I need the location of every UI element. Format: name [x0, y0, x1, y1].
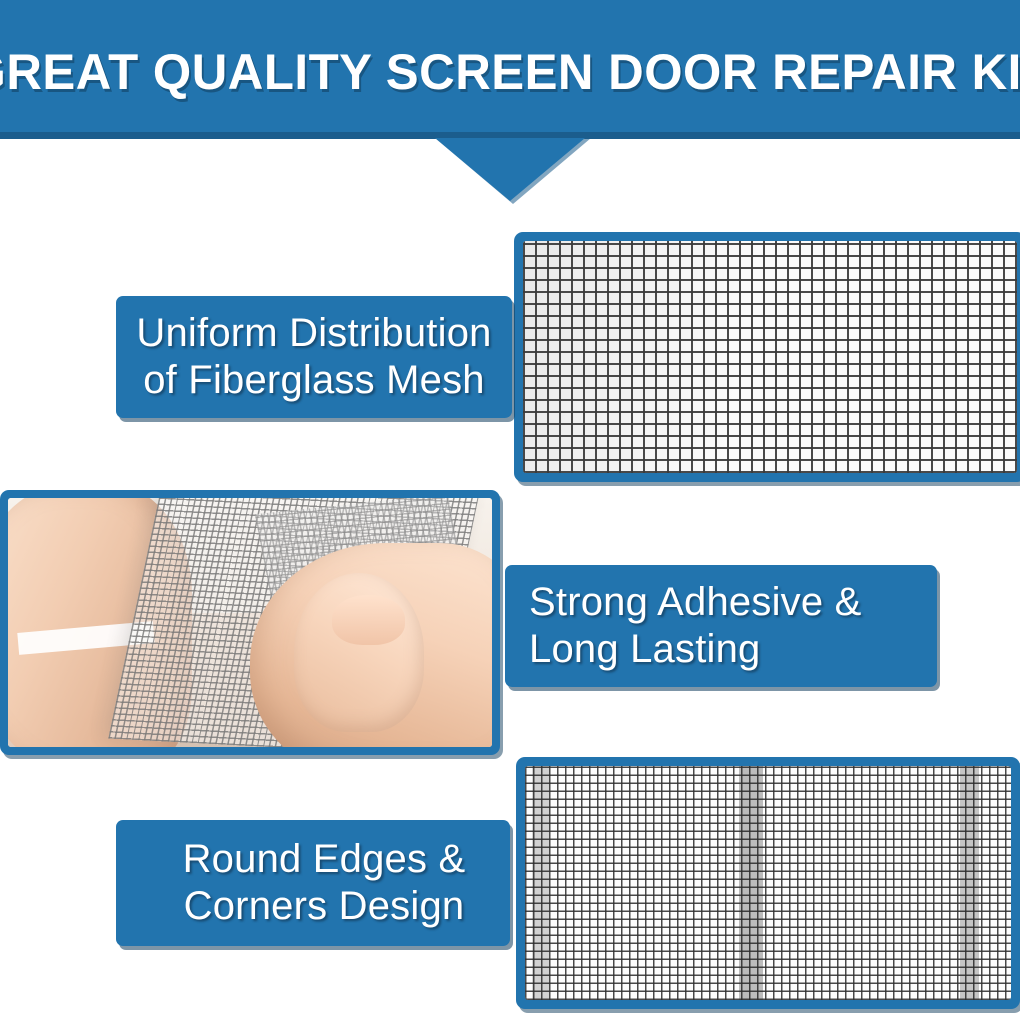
mesh-density-band-left	[532, 766, 549, 1000]
feature-3-line-1: Round Edges &	[161, 836, 466, 883]
feature-1-line-2: of Fiberglass Mesh	[143, 357, 485, 404]
page-title: GREAT QUALITY SCREEN DOOR REPAIR KIT	[8, 0, 1013, 139]
feature-2-line-1: Strong Adhesive &	[529, 579, 862, 626]
mesh-swatch-fine-panel	[516, 757, 1020, 1009]
feature-callout-uniform-distribution: Uniform Distribution of Fiberglass Mesh	[116, 296, 512, 418]
mesh-swatch-fine-image	[525, 766, 1011, 1000]
feature-1-line-1: Uniform Distribution	[136, 310, 491, 357]
feature-3-line-2: Corners Design	[162, 883, 465, 930]
feature-callout-round-edges: Round Edges & Corners Design	[116, 820, 510, 946]
hands-photo-panel	[0, 490, 500, 755]
thumbnail-shape	[332, 595, 405, 645]
mesh-density-band-center	[739, 766, 763, 1000]
feature-2-line-2: Long Lasting	[529, 626, 760, 673]
hands-photo-image	[8, 498, 492, 747]
product-feature-poster: GREAT QUALITY SCREEN DOOR REPAIR KIT Uni…	[0, 0, 1020, 1014]
mesh-swatch-coarse-panel	[514, 232, 1020, 482]
fiberglass-mesh-weave-graphic	[523, 241, 1017, 473]
hands-peeling-mesh-photo-graphic	[8, 498, 492, 747]
mesh-density-band-right	[960, 766, 979, 1000]
feature-callout-strong-adhesive: Strong Adhesive & Long Lasting	[505, 565, 937, 687]
header-notch-icon	[435, 138, 585, 201]
mesh-swatch-coarse-image	[523, 241, 1017, 473]
fine-fiberglass-mesh-weave-graphic	[525, 766, 1011, 1000]
